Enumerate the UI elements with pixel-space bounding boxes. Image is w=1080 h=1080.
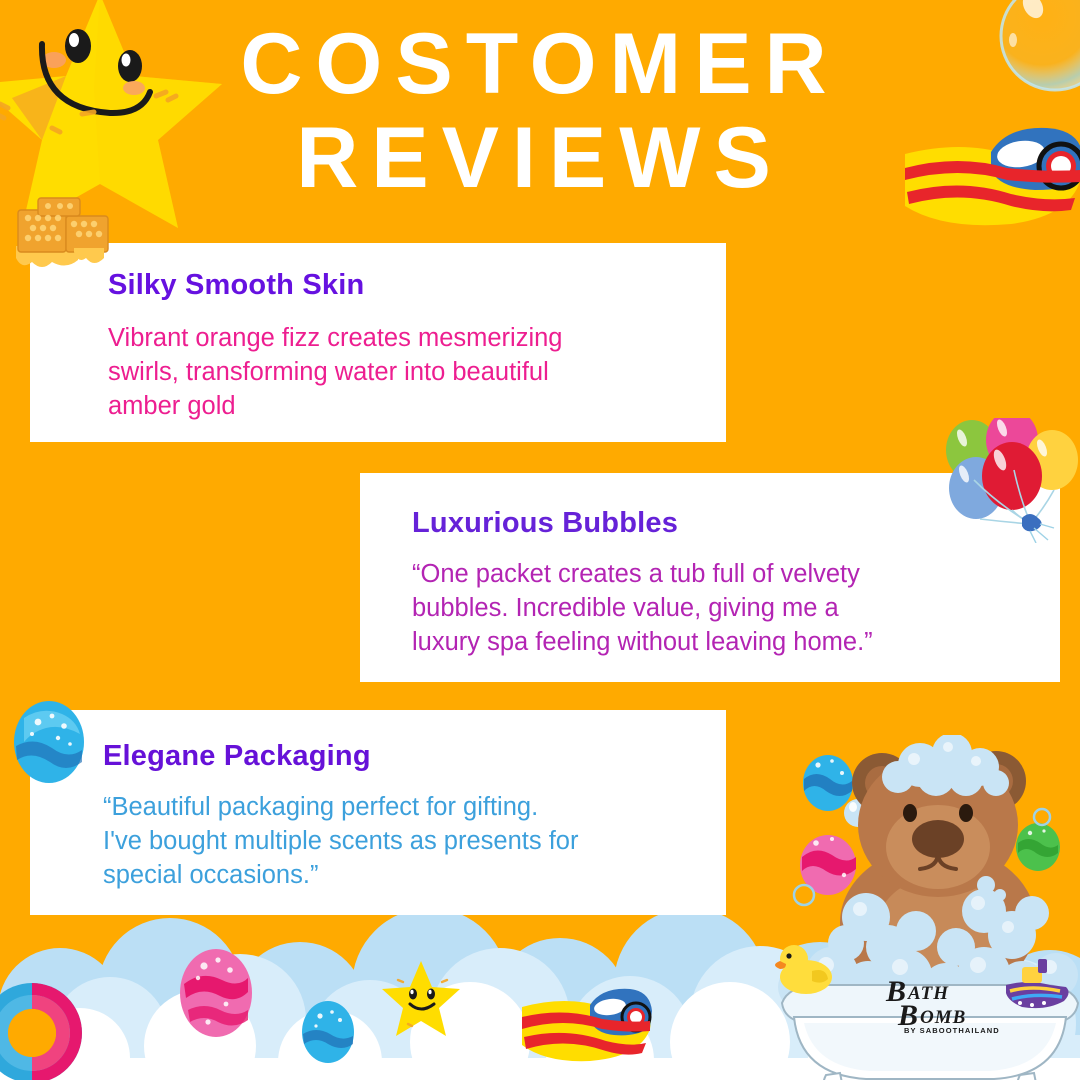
- bath-bomb-green-float: [1016, 823, 1060, 871]
- review-card-1-body-line-1: Vibrant orange fizz creates mesmerizing: [108, 322, 686, 356]
- soap-bubble-icon: [995, 0, 1080, 98]
- logo-omb: OMB: [920, 1007, 966, 1028]
- logo-b1: B: [885, 975, 906, 1008]
- smiling-star-small-icon: [378, 958, 464, 1040]
- bath-bomb-pink-icon: [178, 948, 254, 1038]
- bath-bomb-pink-float: [800, 835, 856, 895]
- bath-bomb-blue-float: [803, 755, 853, 811]
- review-poster: B ATH B OMB BY SABOOTHAILAND COSTOMER RE…: [0, 0, 1080, 1080]
- review-card-2-body: “One packet creates a tub full of velvet…: [412, 558, 1024, 660]
- review-card-1: Silky Smooth Skin Vibrant orange fizz cr…: [30, 243, 726, 442]
- review-card-3-body-line-1: “Beautiful packaging perfect for gifting…: [103, 791, 686, 825]
- rubber-duck-icon: [775, 945, 832, 994]
- bath-bomb-blue-small-icon: [300, 1000, 356, 1064]
- review-card-2-body-line-1: “One packet creates a tub full of velvet…: [412, 558, 1024, 592]
- review-card-3: Elegane Packaging “Beautiful packaging p…: [30, 710, 726, 915]
- logo-b2: B: [897, 999, 918, 1032]
- review-card-2-body-line-3: luxury spa feeling without leaving home.…: [412, 626, 1024, 660]
- toy-boat-icon: [895, 120, 1080, 235]
- swim-ring-icon: [0, 975, 100, 1080]
- review-card-3-body-line-3: special occasions.”: [103, 859, 686, 893]
- teddy-bear-in-bathtub-icon: [770, 735, 1080, 1080]
- review-card-1-body-line-3: amber gold: [108, 390, 686, 424]
- review-card-1-body-line-2: swirls, transforming water into beautifu…: [108, 356, 686, 390]
- cloud-foam-band-icon: [0, 890, 1080, 1080]
- review-card-1-heading: Silky Smooth Skin: [108, 269, 686, 302]
- title-line-2: REVIEWS: [0, 116, 1080, 200]
- review-card-2-body-line-2: bubbles. Incredible value, giving me a: [412, 592, 1024, 626]
- logo-ath: ATH: [907, 983, 949, 1004]
- logo-tagline: BY SABOOTHAILAND: [904, 1026, 1000, 1035]
- review-card-3-heading: Elegane Packaging: [103, 740, 686, 773]
- page-title: COSTOMER REVIEWS: [0, 22, 1080, 201]
- review-card-2: Luxurious Bubbles “One packet creates a …: [360, 473, 1060, 682]
- toy-boat-bottom-icon: [518, 985, 658, 1067]
- title-line-1: COSTOMER: [0, 22, 1080, 106]
- review-card-1-body: Vibrant orange fizz creates mesmerizing …: [108, 322, 686, 424]
- review-card-3-body-line-2: I've bought multiple scents as presents …: [103, 825, 686, 859]
- toy-boat-small-icon: [1006, 959, 1069, 1008]
- brand-logo: B ATH B OMB BY SABOOTHAILAND: [868, 975, 1028, 1037]
- review-card-2-heading: Luxurious Bubbles: [412, 507, 1024, 540]
- review-card-3-body: “Beautiful packaging perfect for gifting…: [103, 791, 686, 893]
- smiling-star-icon: [0, 0, 232, 238]
